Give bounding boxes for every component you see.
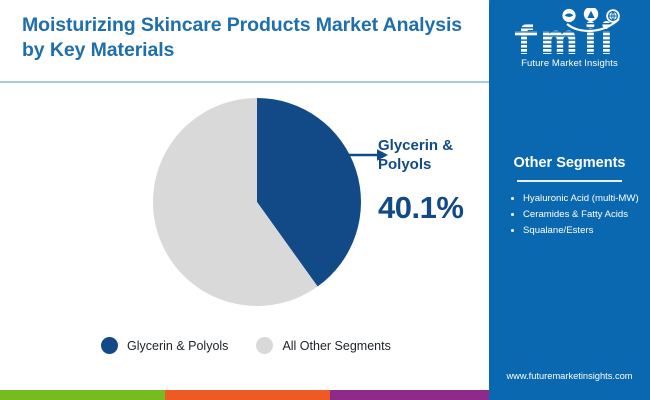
brand-logo: Future Market Insights [489, 8, 650, 69]
legend-item: Glycerin & Polyols [101, 337, 228, 354]
main-content-panel: Moisturizing Skincare Products Market An… [0, 0, 489, 390]
brand-side-panel: Future Market Insights Other Segments Hy… [489, 0, 650, 390]
list-item: Squalane/Esters [509, 224, 645, 237]
bar-segment-green [0, 390, 165, 400]
callout-value: 40.1% [378, 190, 498, 226]
website-url[interactable]: www.futuremarketinsights.com [489, 371, 650, 381]
title-divider [0, 81, 489, 83]
page-title: Moisturizing Skincare Products Market An… [22, 13, 472, 63]
bottom-color-bar [0, 390, 650, 400]
side-panel-heading: Other Segments [489, 155, 650, 171]
legend-item: All Other Segments [256, 337, 390, 354]
legend-label: Glycerin & Polyols [127, 339, 228, 353]
pie-chart [152, 97, 362, 307]
fmi-logo-icon [507, 8, 633, 56]
bar-segment-blue [489, 390, 650, 400]
callout-label: Glycerin & Polyols [378, 136, 486, 174]
infographic-canvas: Moisturizing Skincare Products Market An… [0, 0, 650, 400]
legend-label: All Other Segments [282, 339, 390, 353]
pie-chart-svg [152, 97, 362, 307]
legend-swatch-glycerin-polyols [101, 337, 118, 354]
list-item: Ceramides & Fatty Acids [509, 208, 645, 221]
chart-legend: Glycerin & Polyols All Other Segments [101, 337, 391, 354]
legend-swatch-all-other-segments [256, 337, 273, 354]
list-item: Hyaluronic Acid (multi-MW) [509, 192, 645, 205]
bar-segment-orange [165, 390, 330, 400]
bar-segment-purple [330, 390, 489, 400]
side-panel-divider [517, 180, 622, 182]
other-segments-list: Hyaluronic Acid (multi-MW) Ceramides & F… [509, 192, 645, 241]
brand-tagline: Future Market Insights [489, 58, 650, 69]
